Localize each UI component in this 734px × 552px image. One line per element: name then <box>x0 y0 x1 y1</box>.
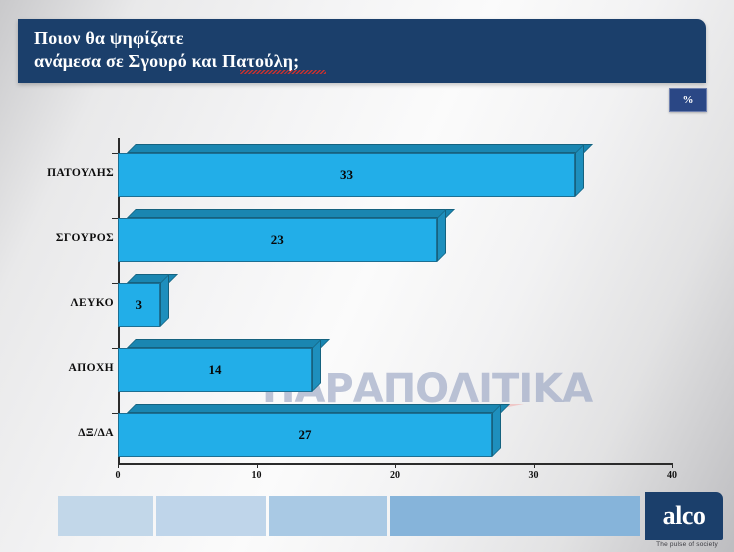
bar-side-face <box>437 209 446 262</box>
category-label-3: ΛΕΥΚΟ <box>18 297 114 309</box>
slide-canvas: Ποιον θα ψηφίζατε ανάμεσα σε Σγουρό και … <box>0 0 734 552</box>
bar-side-face <box>312 339 321 392</box>
category-label-2: ΣΓΟΥΡΟΣ <box>18 232 114 244</box>
bar-top-face <box>127 144 593 153</box>
alco-logo: alco <box>645 492 723 540</box>
bar-value-label: 27 <box>118 413 492 457</box>
x-tick-mark <box>395 463 396 468</box>
bar-side-face <box>575 144 584 197</box>
bar-side-face <box>492 404 501 457</box>
bar-value-label: 3 <box>118 283 160 327</box>
bar-top-face <box>127 339 330 348</box>
footer-segment-3 <box>269 496 387 536</box>
bar-top-face <box>127 274 178 283</box>
category-label-1: ΠΑΤΟΥΛΗΣ <box>18 167 114 179</box>
category-labels: ΠΑΤΟΥΛΗΣΣΓΟΥΡΟΣΛΕΥΚΟΑΠΟΧΗΔΞ/ΔΑ <box>14 104 114 484</box>
bar-5: 27 <box>118 404 492 448</box>
category-label-4: ΑΠΟΧΗ <box>18 362 114 374</box>
bar-top-face <box>127 404 510 413</box>
bar-value-label: 33 <box>118 153 575 197</box>
x-tick-mark <box>118 463 119 468</box>
category-label-5: ΔΞ/ΔΑ <box>18 427 114 439</box>
footer-segment-1 <box>58 496 153 536</box>
bar-2: 23 <box>118 209 437 253</box>
title-banner: Ποιον θα ψηφίζατε ανάμεσα σε Σγουρό και … <box>18 19 706 83</box>
bar-side-face <box>160 274 169 327</box>
footer-bar: alco The pulse of society <box>0 487 734 552</box>
x-tick-mark <box>534 463 535 468</box>
x-tick-label: 30 <box>529 470 539 481</box>
chart-plot-area: ΠΑΡΑΠΟΛΙΤΙΚΑ ΠΑΤΟΥΛΗΣΣΓΟΥΡΟΣΛΕΥΚΟΑΠΟΧΗΔΞ… <box>0 104 734 484</box>
alco-tagline: The pulse of society <box>645 541 729 548</box>
x-tick-label: 10 <box>252 470 262 481</box>
x-tick-mark <box>257 463 258 468</box>
footer-segment-2 <box>156 496 266 536</box>
bar-value-label: 14 <box>118 348 312 392</box>
x-tick-label: 0 <box>116 470 121 481</box>
x-tick-label: 40 <box>667 470 677 481</box>
bar-1: 33 <box>118 144 575 188</box>
bar-top-face <box>127 209 455 218</box>
bar-4: 14 <box>118 339 312 383</box>
footer-segment-4 <box>390 496 640 536</box>
bar-value-label: 23 <box>118 218 437 262</box>
x-tick-mark <box>672 463 673 468</box>
x-tick-label: 20 <box>390 470 400 481</box>
spellcheck-underline <box>240 70 326 74</box>
bar-3: 3 <box>118 274 160 318</box>
alco-logo-text: alco <box>663 503 706 529</box>
page-title: Ποιον θα ψηφίζατε ανάμεσα σε Σγουρό και … <box>34 27 698 73</box>
